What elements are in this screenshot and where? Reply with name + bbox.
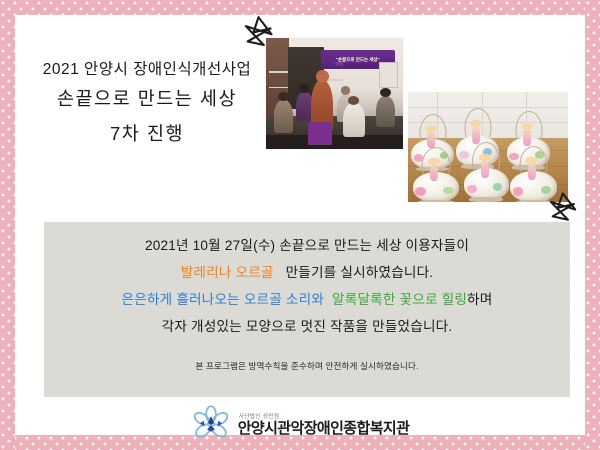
photo-workshop-poster bbox=[379, 62, 397, 87]
poster-canvas: 2021 안양시 장애인식개선사업 손끝으로 만드는 세상 7차 진행 "손끝으… bbox=[0, 0, 600, 450]
body-line-2: 발레리나 오르골 만들기를 실시하였습니다. bbox=[44, 263, 570, 283]
photo-person-head bbox=[299, 84, 309, 93]
photo-workshop-floor bbox=[266, 135, 403, 149]
photo-workshop-shelf bbox=[326, 79, 342, 81]
org-subtitle: 사단법인 성민원 bbox=[239, 412, 410, 420]
body-line-3-blue: 은은하게 흘러나오는 오르골 소리와 bbox=[122, 292, 325, 307]
title-line-program: 2021 안양시 장애인식개선사업 bbox=[22, 58, 272, 82]
photo-person bbox=[274, 100, 293, 133]
body-text-block: 2021년 10월 27일(수) 손끝으로 만드는 세상 이용자들이 발레리나 … bbox=[44, 222, 570, 397]
photo-person bbox=[343, 103, 365, 136]
body-line-2-rest: 만들기를 실시하였습니다. bbox=[286, 265, 434, 280]
body-line-4: 각자 개성있는 모양으로 멋진 작품을 만들었습니다. bbox=[44, 317, 570, 337]
star-bottom-icon bbox=[545, 190, 579, 224]
photo-person bbox=[296, 92, 312, 121]
photo-person bbox=[376, 96, 395, 127]
flower-logo-icon bbox=[191, 405, 231, 443]
org-name: 안양시관악장애인종합복지관 bbox=[238, 421, 410, 437]
photo-person-head bbox=[348, 96, 359, 105]
photo-workshop: "손끝으로 만드는 세상" bbox=[266, 38, 403, 149]
body-note: 본 프로그램은 방역수칙을 준수하며 안전하게 실시하였습니다. bbox=[44, 359, 570, 373]
body-line-2-highlight: 발레리나 오르골 bbox=[181, 265, 274, 280]
body-line-3-rest: 하며 bbox=[467, 292, 492, 307]
body-line-1: 2021년 10월 27일(수) 손끝으로 만드는 세상 이용자들이 bbox=[44, 236, 570, 256]
photo-chair-cloth bbox=[308, 122, 331, 144]
border-frame-right bbox=[585, 0, 600, 450]
body-line-3-green: 알록달록한 꽃으로 힐링 bbox=[332, 292, 467, 307]
border-frame-left bbox=[0, 0, 15, 450]
title-line-name: 손끝으로 만드는 세상 bbox=[22, 82, 272, 116]
photo-products bbox=[408, 92, 568, 202]
poster-title: 2021 안양시 장애인식개선사업 손끝으로 만드는 세상 7차 진행 bbox=[22, 58, 272, 152]
title-line-session: 7차 진행 bbox=[22, 116, 272, 152]
photo-person-head bbox=[380, 88, 391, 97]
photo-person-head bbox=[341, 86, 351, 95]
music-box bbox=[413, 154, 459, 202]
photo-person-head bbox=[316, 70, 329, 83]
star-top-icon bbox=[240, 14, 276, 50]
footer-logo: 사단법인 성민원 안양시관악장애인종합복지관 bbox=[0, 404, 600, 444]
footer-logo-text: 사단법인 성민원 안양시관악장애인종합복지관 bbox=[238, 412, 410, 437]
music-box bbox=[464, 149, 509, 200]
border-frame-top bbox=[0, 0, 600, 15]
body-line-3: 은은하게 흘러나오는 오르골 소리와 알록달록한 꽃으로 힐링하며 bbox=[44, 290, 570, 310]
